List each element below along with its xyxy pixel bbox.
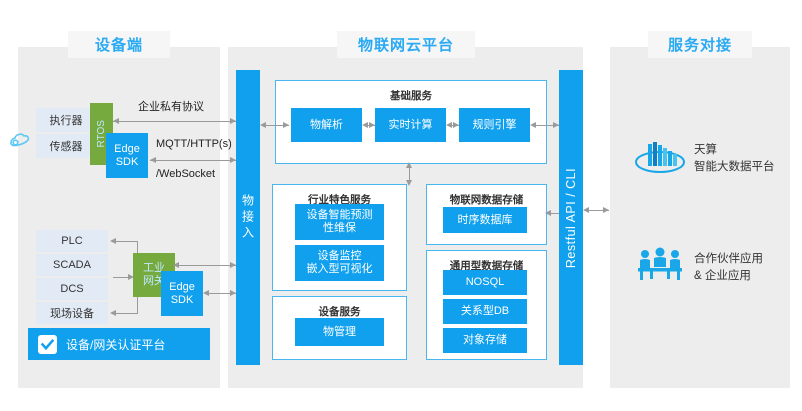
panel-title-device-label: 设备端 (95, 34, 143, 55)
basic-services-title: 基础服务 (276, 88, 546, 103)
device-endpoint-sensor-label: 传感器 (50, 138, 83, 154)
basic-service-rules-label: 规则引擎 (473, 119, 517, 132)
general-storage-nosql: NOSQL (443, 270, 527, 295)
ingress-bar-label: 物接入 (240, 194, 257, 242)
panel-title-service: 服务对接 (648, 31, 752, 58)
device-source-dcs-label: DCS (60, 283, 83, 295)
service-bigdata-text: 天算 智能大数据平台 (694, 142, 775, 175)
industry-service-predictive-line2: 性维保 (323, 222, 356, 235)
label-mqtt: MQTT/HTTP(s) (156, 138, 232, 150)
panel-title-service-label: 服务对接 (668, 34, 732, 55)
iot-storage-title: 物联网数据存储 (427, 192, 546, 207)
ingress-bar: 物接入 (236, 70, 260, 365)
industry-service-predictive: 设备智能预测 性维保 (295, 204, 384, 240)
arrow-basic-down-head-up (406, 162, 412, 168)
arrow-iot-storage-api-head (545, 210, 551, 216)
arrow-realtime-rules-head-right (453, 122, 459, 128)
check-icon (38, 335, 57, 354)
device-source-scada-label: SCADA (53, 259, 91, 271)
edge-sdk-top: Edge SDK (106, 133, 148, 178)
arrow-api-service-head-left (583, 207, 589, 213)
general-storage-rdb-label: 关系型DB (461, 305, 509, 318)
arrow-gateway-ingress-line (176, 265, 236, 266)
arrow-rules-api-head-right (553, 122, 559, 128)
general-storage-object: 对象存储 (443, 328, 527, 353)
edge-sdk-bottom: Edge SDK (161, 271, 203, 316)
device-endpoint-actuator: 执行器 (36, 108, 96, 132)
basic-service-rules: 规则引擎 (459, 108, 530, 142)
device-auth-platform-label: 设备/网关认证平台 (66, 336, 165, 353)
general-storage-nosql-label: NOSQL (466, 276, 505, 289)
api-bar: Restful API / CLI (559, 70, 583, 365)
device-services-title: 设备服务 (273, 304, 406, 319)
basic-service-realtime: 实时计算 (375, 108, 446, 142)
general-storage-object-label: 对象存储 (463, 334, 507, 347)
label-private-protocol: 企业私有协议 (138, 98, 204, 114)
bracket-plc-line (113, 241, 137, 242)
arrow-mqtt-line (150, 160, 236, 161)
iot-storage-tsdb: 时序数据库 (443, 207, 527, 233)
device-auth-platform-bar[interactable]: 设备/网关认证平台 (28, 328, 210, 360)
basic-service-realtime-label: 实时计算 (389, 119, 433, 132)
bracket-field-line (113, 313, 137, 314)
general-storage-rdb: 关系型DB (443, 299, 527, 324)
basic-service-parse-label: 物解析 (310, 119, 343, 132)
label-websocket: /WebSocket (156, 168, 215, 180)
edge-sdk-bottom-line2: SDK (171, 294, 194, 307)
arrow-private-protocol-line (113, 121, 236, 122)
api-bar-label: Restful API / CLI (564, 167, 578, 267)
industry-service-monitoring-line2: 嵌入型可视化 (307, 263, 373, 276)
device-endpoint-sensor: 传感器 (36, 134, 96, 158)
device-service-thing-mgmt-label: 物管理 (323, 326, 356, 339)
arrow-gateway-ingress-head-left (173, 262, 179, 268)
edge-sdk-top-line1: Edge (114, 143, 140, 156)
device-source-dcs: DCS (36, 278, 108, 300)
industry-service-monitoring: 设备监控 嵌入型可视化 (295, 245, 384, 281)
arrow-mqtt-head-left (150, 157, 156, 163)
arrow-ingress-parse-head-right (283, 122, 289, 128)
device-source-plc-label: PLC (61, 235, 82, 247)
basic-service-parse: 物解析 (291, 108, 362, 142)
bracket-field-head (110, 310, 116, 316)
arrow-edgesdk-ingress-head-left (203, 290, 209, 296)
panel-title-platform-label: 物联网云平台 (358, 34, 454, 55)
cloud-outline-icon (8, 128, 32, 152)
device-source-field-label: 现场设备 (50, 305, 94, 321)
panel-service (610, 47, 790, 388)
device-source-scada: SCADA (36, 254, 108, 276)
edge-sdk-top-line2: SDK (116, 156, 139, 169)
device-service-thing-mgmt: 物管理 (295, 318, 384, 346)
panel-title-device: 设备端 (68, 31, 170, 58)
arrow-rules-api-head-left (530, 122, 536, 128)
arrow-parse-realtime-head-right (369, 122, 375, 128)
industry-service-monitoring-line1: 设备监控 (318, 250, 362, 263)
service-bigdata-line1: 天算 (694, 142, 775, 159)
service-partner-line2: & 企业应用 (694, 268, 763, 285)
bracket-plc-head (110, 238, 116, 244)
arrow-parse-realtime-head-left (362, 122, 368, 128)
people-table-icon (634, 245, 686, 283)
arrow-ingress-parse-head-left (260, 122, 266, 128)
architecture-diagram: 设备端 物联网云平台 服务对接 执行器 传感器 RTOS Edge SDK 企业… (0, 0, 802, 411)
device-source-field: 现场设备 (36, 302, 108, 324)
arrow-realtime-rules-head-left (446, 122, 452, 128)
arrow-private-protocol-head-left (113, 118, 119, 124)
service-partner-text: 合作伙伴应用 & 企业应用 (694, 251, 763, 284)
arrow-api-service-head-right (603, 207, 609, 213)
device-endpoint-actuator-label: 执行器 (50, 112, 83, 128)
service-partner-line1: 合作伙伴应用 (694, 251, 763, 268)
panel-title-platform: 物联网云平台 (337, 31, 475, 58)
iot-storage-tsdb-label: 时序数据库 (458, 214, 513, 227)
server-bars-icon (634, 138, 686, 178)
industry-service-predictive-line1: 设备智能预测 (307, 209, 373, 222)
edge-sdk-bottom-line1: Edge (169, 281, 195, 294)
device-source-plc: PLC (36, 230, 108, 252)
service-bigdata-line2: 智能大数据平台 (694, 159, 775, 176)
